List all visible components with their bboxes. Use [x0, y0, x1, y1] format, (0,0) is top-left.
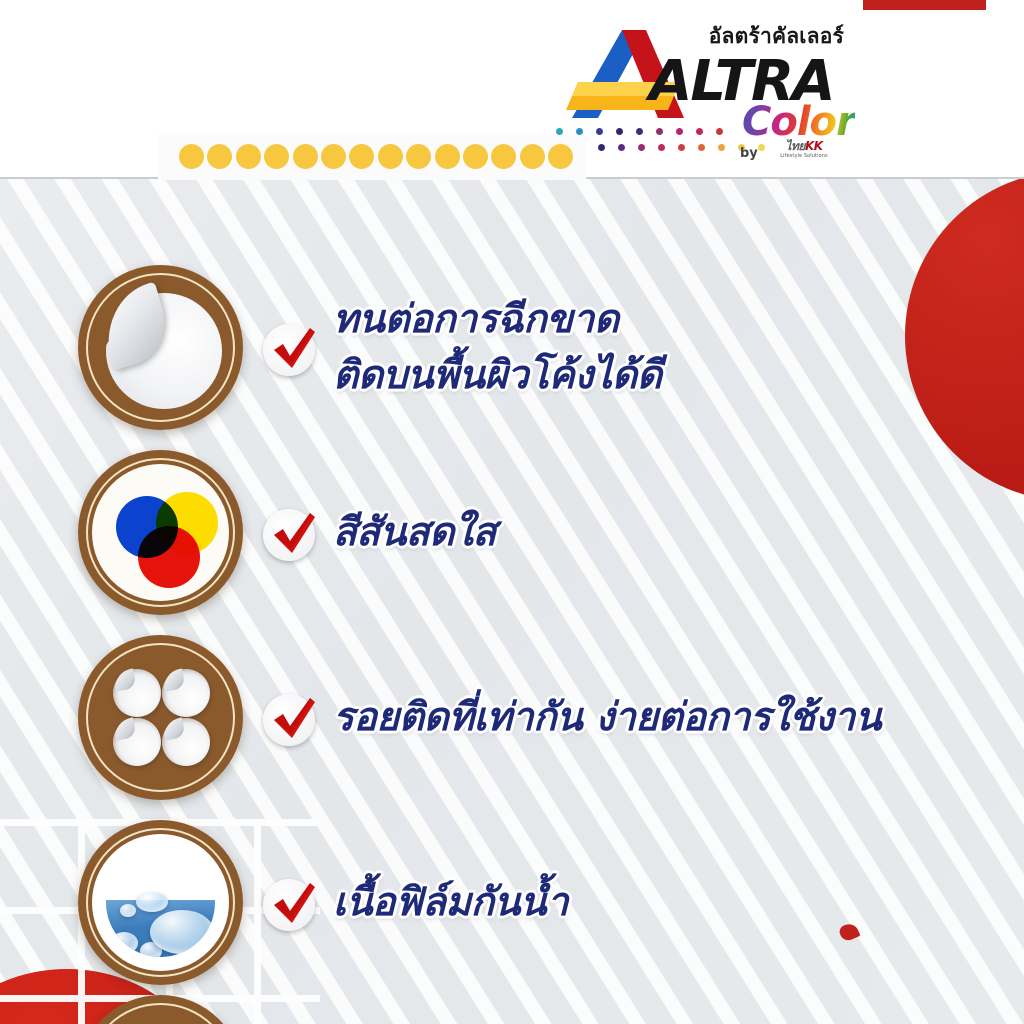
feature-label: ทนต่อการฉีกขาด ติดบนพื้นผิวโค้งได้ดี — [333, 292, 662, 404]
yellow-dot — [349, 144, 374, 169]
logo-dot — [656, 128, 663, 135]
feature-item-tear-resistant: ทนต่อการฉีกขาด ติดบนพื้นผิวโค้งได้ดี — [78, 265, 662, 430]
feature-label-line: ทนต่อการฉีกขาด — [333, 292, 662, 348]
logo-dot — [698, 144, 705, 151]
logo-dot — [696, 128, 703, 135]
feature-item-waterproof-film: เนื้อฟิล์มกันน้ำ — [78, 820, 568, 985]
logo-dot — [618, 144, 625, 151]
feature-label: เนื้อฟิล์มกันน้ำ — [333, 875, 568, 931]
yellow-dot — [378, 144, 403, 169]
navy-dot-sticker-sheet — [855, 919, 1024, 1024]
magenta-circle — [138, 526, 200, 588]
yellow-dot — [491, 144, 516, 169]
yellow-dot — [321, 144, 346, 169]
partner-tagline: Lifestyle Solutions — [770, 153, 838, 160]
red-check-icon — [263, 320, 319, 376]
red-tab-accent — [863, 0, 986, 10]
poster-canvas: ทนต่อการฉีกขาด ติดบนพื้นผิวโค้งได้ดี — [0, 0, 1024, 1024]
logo-dot — [556, 128, 563, 135]
feature-label-line: สีสันสดใส — [333, 505, 496, 561]
red-check-icon — [263, 875, 319, 931]
logo-dot — [596, 128, 603, 135]
yellow-dot — [293, 144, 318, 169]
feature-item-vivid-colors: สีสันสดใส — [78, 450, 496, 615]
feature-label-line: ติดบนพื้นผิวโค้งได้ดี — [333, 348, 662, 404]
logo-dot — [638, 144, 645, 151]
logo-dot — [598, 144, 605, 151]
logo-dot — [718, 144, 725, 151]
feature-label: สีสันสดใส — [333, 505, 496, 561]
logo-dot — [758, 144, 765, 151]
feature-label: รอยติดที่เท่ากัน ง่ายต่อการใช้งาน — [333, 690, 881, 746]
logo-dot — [658, 144, 665, 151]
yellow-dot — [435, 144, 460, 169]
yellow-dot-strip — [158, 133, 586, 180]
feature-label-line: เนื้อฟิล์มกันน้ำ — [333, 875, 568, 931]
yellow-dot — [406, 144, 431, 169]
partner-name: ไทยKK — [770, 140, 838, 153]
yellow-dot — [463, 144, 488, 169]
by-label: by — [740, 146, 758, 161]
four-round-labels-icon — [78, 635, 243, 800]
yellow-dot — [207, 144, 232, 169]
logo-dot — [678, 144, 685, 151]
red-check-icon — [263, 690, 319, 746]
feature-item-even-adhesion: รอยติดที่เท่ากัน ง่ายต่อการใช้งาน — [78, 635, 881, 800]
logo-dot — [616, 128, 623, 135]
partner-logo: ไทยKK Lifestyle Solutions — [770, 140, 838, 168]
logo-dot — [676, 128, 683, 135]
peeling-sticker-icon — [78, 265, 243, 430]
yellow-dot — [520, 144, 545, 169]
water-droplets-icon — [78, 820, 243, 985]
yellow-dot — [179, 144, 204, 169]
red-check-icon — [263, 505, 319, 561]
logo-dot — [636, 128, 643, 135]
yellow-dot — [264, 144, 289, 169]
feature-label-line: รอยติดที่เท่ากัน ง่ายต่อการใช้งาน — [333, 690, 881, 746]
cmyk-color-circles-icon — [78, 450, 243, 615]
logo-dot — [576, 128, 583, 135]
yellow-dot — [236, 144, 261, 169]
logo-dot — [716, 128, 723, 135]
